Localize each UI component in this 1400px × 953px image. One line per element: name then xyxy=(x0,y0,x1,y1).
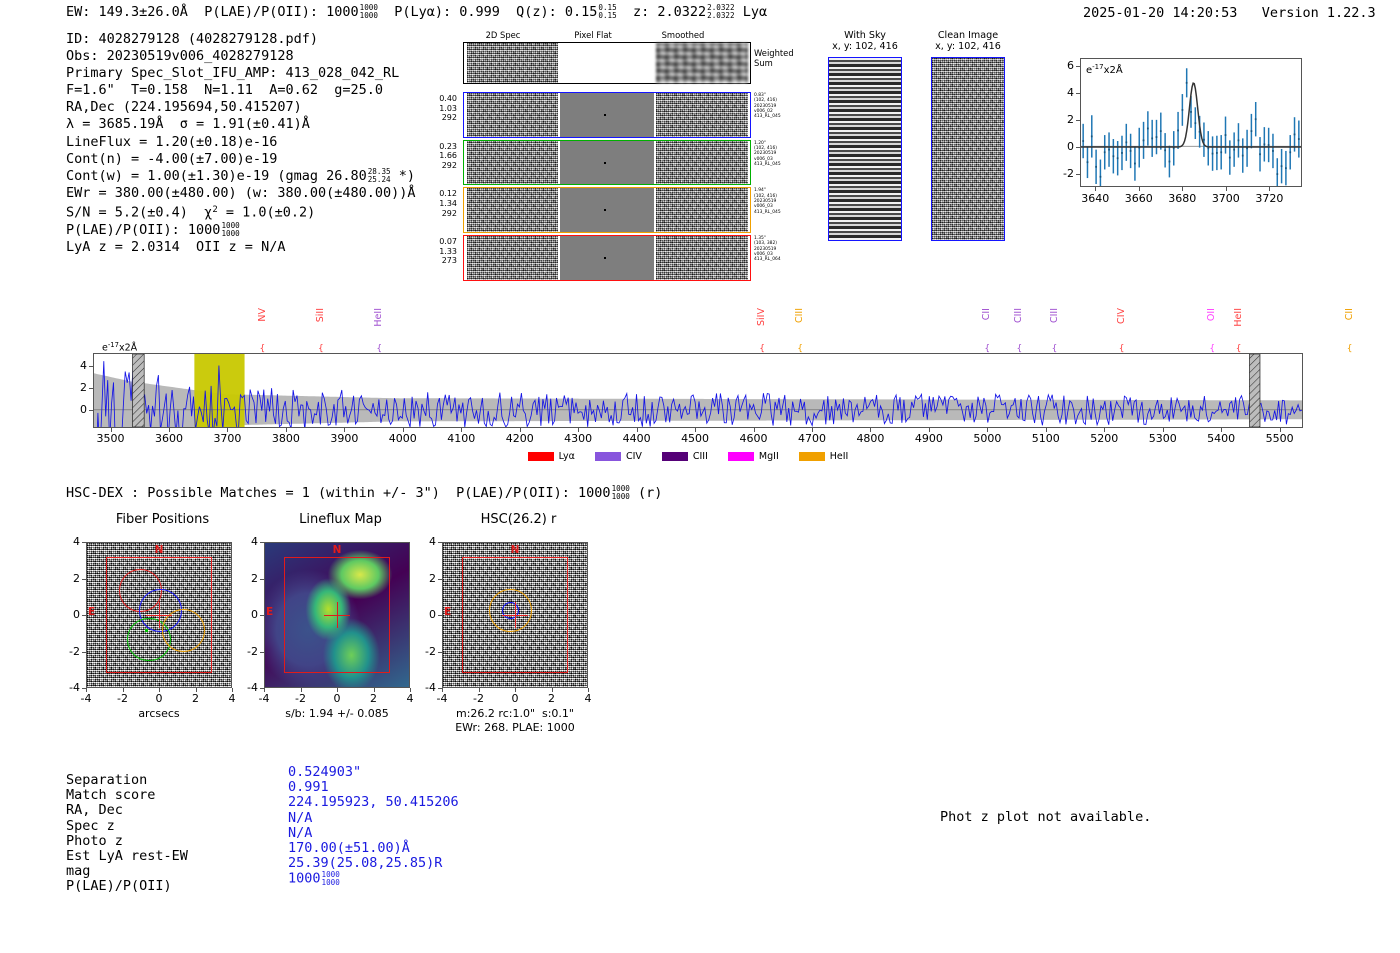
fiber-stat-value: 1.03 xyxy=(411,104,457,114)
compass-east-label: E xyxy=(266,606,273,618)
fiber-stat-value: 0.23 xyxy=(411,142,457,152)
x-tick-label: 5500 xyxy=(1255,432,1305,445)
fiber-row-stats: 0.071.33273 xyxy=(411,237,457,266)
y-tick-mark xyxy=(1076,66,1080,67)
with-sky-panel: With Sky x, y: 102, 416 xyxy=(824,30,906,245)
fiber-stat-value: 0.07 xyxy=(411,237,457,247)
legend-entry: Lyα xyxy=(528,451,575,462)
y-tick-mark xyxy=(82,615,86,616)
fiber-row-stats: 0.401.03292 xyxy=(411,94,457,123)
legend-color-swatch xyxy=(662,452,688,461)
y-tick-label: 4 xyxy=(71,359,87,372)
x-tick-label: 4100 xyxy=(436,432,486,445)
timestamp-version: 2025-01-20 14:20:53 Version 1.22.3 xyxy=(1083,5,1376,21)
match-plae-fraction: 10001000 xyxy=(322,871,340,886)
with-sky-image xyxy=(828,57,902,241)
x-tick-label: 2 xyxy=(360,692,388,705)
cutout-caption-primary: m:26.2 rc:1.0" s:0.1" xyxy=(416,707,614,720)
spec2d-aggregate-strip xyxy=(463,42,751,84)
y-tick-mark xyxy=(438,542,442,543)
x-tick-label: 3800 xyxy=(261,432,311,445)
x-tick-label: 3720 xyxy=(1249,192,1289,205)
y-tick-mark xyxy=(260,542,264,543)
fiber-meta-value: 413_RL_045 xyxy=(754,114,812,119)
header-plae-fraction: 10001000 xyxy=(360,4,378,19)
info-plae-fraction: 10001000 xyxy=(221,222,239,237)
fiber-stat-value: 1.66 xyxy=(411,151,457,161)
legend-label: MgII xyxy=(759,451,779,462)
y-tick-label: 0 xyxy=(238,608,258,621)
cutout-caption-primary: s/b: 1.94 +/- 0.085 xyxy=(238,707,436,720)
emission-line-label: HeII xyxy=(1233,308,1244,327)
spec2d-title-2dspec: 2D Spec xyxy=(455,30,551,40)
legend-color-swatch xyxy=(595,452,621,461)
info-continuum-narrow: Cont(n) = -4.00(±7.00)e-19 xyxy=(66,151,416,168)
y-tick-mark xyxy=(89,388,93,389)
cutout-title: Fiber Positions xyxy=(60,512,265,527)
y-tick-mark xyxy=(1076,93,1080,94)
x-tick-label: 4 xyxy=(574,692,602,705)
x-tick-mark xyxy=(1139,187,1140,191)
clean-image-cutout xyxy=(931,57,1005,241)
match-row-label: Separation xyxy=(66,773,147,788)
x-tick-label: 5300 xyxy=(1138,432,1188,445)
hscdex-match-line: HSC-DEX : Possible Matches = 1 (within +… xyxy=(66,485,662,501)
x-tick-label: 4600 xyxy=(729,432,779,445)
x-tick-label: 4900 xyxy=(904,432,954,445)
y-tick-mark xyxy=(438,652,442,653)
y-tick-label: 2 xyxy=(71,381,87,394)
fiber-pixelflat-image xyxy=(560,141,654,185)
crosshair-line xyxy=(159,602,160,628)
y-tick-mark xyxy=(89,410,93,411)
fiber-smoothed-image xyxy=(656,236,748,280)
cutout-image-hsc-r-band[interactable]: NE xyxy=(442,542,588,688)
zoom-spectrum-canvas xyxy=(1081,59,1301,186)
fiber-stat-value: 273 xyxy=(411,256,457,266)
full-spectrum-legend: LyαCIVCIIIMgIIHeII xyxy=(93,446,1303,465)
match-row-label: Photo z xyxy=(66,834,123,849)
y-tick-label: 4 xyxy=(238,535,258,548)
y-tick-label: 2 xyxy=(60,572,80,585)
match-row-value: 224.195923, 50.415206 xyxy=(288,795,459,810)
info-continuum-wide: Cont(w) = 1.00(±1.30)e-19 (gmag 26.8028.… xyxy=(66,168,416,185)
y-tick-mark xyxy=(1076,147,1080,148)
compass-east-label: E xyxy=(444,606,451,618)
fiber-row-metadata: 0.83"(102, 416)20230519v006_02413_RL_045 xyxy=(754,93,812,119)
y-tick-label: 0 xyxy=(60,608,80,621)
legend-label: CIV xyxy=(626,451,642,462)
weighted-sum-label: Weighted Sum xyxy=(754,48,794,68)
x-tick-label: -2 xyxy=(287,692,315,705)
match-row-label: Match score xyxy=(66,788,155,803)
y-tick-label: 4 xyxy=(416,535,436,548)
x-tick-label: 3660 xyxy=(1119,192,1159,205)
y-tick-label: 4 xyxy=(60,535,80,548)
fiber-stat-value: 1.34 xyxy=(411,199,457,209)
fiber-meta-value: 413_RL_045 xyxy=(754,162,812,167)
info-id: ID: 4028279128 (4028279128.pdf) xyxy=(66,31,416,48)
emission-line-label: SiIV xyxy=(756,308,767,326)
cutout-caption-primary: arcsecs xyxy=(60,707,258,720)
y-tick-mark xyxy=(260,652,264,653)
emission-line-label: CIII xyxy=(1049,308,1060,323)
cutout-panel-hsc-r-band: HSC(26.2) rNE420-2-4-4-2024m:26.2 rc:1.0… xyxy=(416,512,621,727)
emission-line-label: HeII xyxy=(373,308,384,327)
legend-label: Lyα xyxy=(559,451,575,462)
x-tick-mark xyxy=(1226,187,1227,191)
y-tick-label: 2 xyxy=(416,572,436,585)
legend-color-swatch xyxy=(799,452,825,461)
fiber-stat-value: 1.33 xyxy=(411,247,457,257)
source-info-block: ID: 4028279128 (4028279128.pdf) Obs: 202… xyxy=(66,31,416,256)
aggregate-2dspec-image xyxy=(467,43,558,83)
fiber-meta-value: 413_RL_064 xyxy=(754,257,812,262)
fiber-row-stats: 0.121.34292 xyxy=(411,189,457,218)
header-plya: P(Lyα): 0.999 xyxy=(394,4,500,20)
fiber-2dspec-image xyxy=(467,236,558,280)
fiber-smoothed-image xyxy=(656,141,748,185)
x-tick-label: 0 xyxy=(145,692,173,705)
y-tick-label: -2 xyxy=(238,645,258,658)
compass-north-label: N xyxy=(511,544,520,556)
fiber-2dspec-image xyxy=(467,141,558,185)
info-radec: RA,Dec (224.195694,50.415207) xyxy=(66,99,416,116)
compass-north-label: N xyxy=(155,544,164,556)
match-row-label: mag xyxy=(66,864,90,879)
cutout-title: Lineflux Map xyxy=(238,512,443,527)
cutout-title: HSC(26.2) r xyxy=(416,512,621,527)
x-tick-label: -4 xyxy=(250,692,278,705)
x-tick-label: 3600 xyxy=(144,432,194,445)
legend-label: CIII xyxy=(693,451,708,462)
gmag-fraction: 28.3525.24 xyxy=(368,168,391,183)
fiber-stat-value: 0.12 xyxy=(411,189,457,199)
fiber-stat-value: 292 xyxy=(411,209,457,219)
crosshair xyxy=(87,543,231,687)
fiber-smoothed-image xyxy=(656,188,748,232)
crosshair-line xyxy=(515,602,516,628)
x-tick-label: 4500 xyxy=(670,432,720,445)
legend-entry: CIII xyxy=(662,451,708,462)
fiber-center-marker xyxy=(604,257,606,259)
match-plae-value: 1000 xyxy=(288,871,321,887)
x-tick-label: 5400 xyxy=(1196,432,1246,445)
y-tick-mark xyxy=(438,579,442,580)
x-tick-label: 0 xyxy=(501,692,529,705)
y-tick-mark xyxy=(1076,174,1080,175)
match-row-value: 100010001000 xyxy=(288,871,340,887)
legend-label: HeII xyxy=(830,451,849,462)
with-sky-coords: x, y: 102, 416 xyxy=(824,41,906,53)
spec2d-title-pixelflat: Pixel Flat xyxy=(545,30,641,40)
fiber-row-metadata: 1.20"(102, 416)20230519v006_03413_RL_045 xyxy=(754,141,812,167)
aggregate-smoothed-image xyxy=(656,43,748,83)
cutout-panel-fiber-positions: Fiber PositionsNE420-2-4-4-2024arcsecs xyxy=(60,512,265,727)
info-rest-ew: EWr = 380.00(±480.00) (w: 380.00(±480.00… xyxy=(66,185,416,202)
y-tick-label: 4 xyxy=(1052,86,1074,99)
x-tick-label: 2 xyxy=(538,692,566,705)
spec2d-fiber-row xyxy=(463,187,751,233)
header-summary-line: EW: 149.3±26.0Å P(LAE)/P(OII): 100010001… xyxy=(66,4,767,20)
photz-plot-message: Phot z plot not available. xyxy=(940,809,1151,825)
clean-image-panel: Clean Image x, y: 102, 416 xyxy=(927,30,1009,245)
spec2d-fiber-row xyxy=(463,235,751,281)
header-qz-label: Q(z): 0.15 xyxy=(516,4,597,20)
x-tick-label: 3640 xyxy=(1075,192,1115,205)
match-row-label: Spec z xyxy=(66,819,115,834)
y-tick-mark xyxy=(89,366,93,367)
info-plae: P(LAE)/P(OII): 100010001000 xyxy=(66,222,416,239)
fiber-center-marker xyxy=(604,209,606,211)
x-tick-label: 4300 xyxy=(553,432,603,445)
info-observing-conditions: F=1.6" T=0.158 N=1.11 A=0.62 g=25.0 xyxy=(66,82,416,99)
cutout-panel-lineflux-map: Lineflux MapNE420-2-4-4-2024s/b: 1.94 +/… xyxy=(238,512,443,727)
cutout-image-fiber-positions[interactable]: NE xyxy=(86,542,232,688)
y-tick-mark xyxy=(82,652,86,653)
y-tick-mark xyxy=(82,579,86,580)
x-tick-mark xyxy=(1095,187,1096,191)
emission-line-label: CII xyxy=(1344,308,1355,320)
header-qz-fraction: 0.150.15 xyxy=(598,4,616,19)
y-tick-mark xyxy=(260,615,264,616)
x-tick-label: 3700 xyxy=(1206,192,1246,205)
zoom-spectrum-frame xyxy=(1080,58,1302,187)
info-sn-chi2: S/N = 5.2(±0.4) χ2 = 1.0(±0.2) xyxy=(66,202,416,222)
crosshair-line xyxy=(337,602,338,628)
fiber-smoothed-image xyxy=(656,93,748,137)
fiber-2dspec-image xyxy=(467,188,558,232)
crosshair xyxy=(443,543,587,687)
fiber-row-stats: 0.231.66292 xyxy=(411,142,457,171)
zoom-spectrum-plot: e-17x2Å -20246 36403660368037003720 xyxy=(1040,55,1302,215)
y-tick-mark xyxy=(82,542,86,543)
y-tick-mark xyxy=(1076,120,1080,121)
x-tick-label: 3500 xyxy=(86,432,136,445)
full-spectrum-frame xyxy=(93,353,1303,428)
emission-line-label: SiII xyxy=(315,308,326,322)
fiber-stat-value: 292 xyxy=(411,113,457,123)
cutout-image-lineflux-map[interactable]: NE xyxy=(264,542,410,688)
emission-line-label: CII xyxy=(981,308,992,320)
x-tick-label: 3900 xyxy=(319,432,369,445)
fiber-stat-value: 292 xyxy=(411,161,457,171)
hscdex-plae-fraction: 10001000 xyxy=(612,485,630,500)
y-tick-label: 0 xyxy=(71,403,87,416)
y-tick-label: 6 xyxy=(1052,59,1074,72)
fiber-row-metadata: 1.94"(102, 416)20230519v006_03413_RL_045 xyxy=(754,188,812,214)
x-tick-label: 4000 xyxy=(378,432,428,445)
fiber-pixelflat-image xyxy=(560,188,654,232)
legend-entry: CIV xyxy=(595,451,642,462)
emission-line-label: CIII xyxy=(1013,308,1024,323)
full-spectrum-canvas xyxy=(94,354,1302,427)
y-tick-label: -2 xyxy=(416,645,436,658)
match-row-value: 170.00(±51.00)Å xyxy=(288,841,410,856)
match-row-value: N/A xyxy=(288,811,312,826)
header-z-label: z: 2.0322 xyxy=(633,4,706,20)
x-tick-label: 5100 xyxy=(1021,432,1071,445)
with-sky-title: With Sky xyxy=(824,30,906,42)
fiber-center-marker xyxy=(604,114,606,116)
x-tick-label: 3700 xyxy=(202,432,252,445)
info-obs: Obs: 20230519v006_4028279128 xyxy=(66,48,416,65)
match-row-value: N/A xyxy=(288,826,312,841)
x-tick-label: 4800 xyxy=(845,432,895,445)
clean-image-coords: x, y: 102, 416 xyxy=(927,41,1009,53)
fiber-pixelflat-image xyxy=(560,236,654,280)
info-lambda-sigma: λ = 3685.19Å σ = 1.91(±0.41)Å xyxy=(66,116,416,133)
y-tick-label: 0 xyxy=(1052,140,1074,153)
spec2d-title-smoothed: Smoothed xyxy=(635,30,731,40)
x-tick-label: 3680 xyxy=(1162,192,1202,205)
legend-entry: HeII xyxy=(799,451,849,462)
x-tick-label: -2 xyxy=(109,692,137,705)
fiber-center-marker xyxy=(604,162,606,164)
x-tick-label: 2 xyxy=(182,692,210,705)
crosshair xyxy=(265,543,409,687)
match-row-label: P(LAE)/P(OII) xyxy=(66,879,172,894)
legend-color-swatch xyxy=(528,452,554,461)
fiber-pixelflat-image xyxy=(560,93,654,137)
x-tick-label: 5000 xyxy=(962,432,1012,445)
spec2d-fiber-row xyxy=(463,140,751,186)
fiber-stat-value: 0.40 xyxy=(411,94,457,104)
info-lineflux: LineFlux = 1.20(±0.18)e-16 xyxy=(66,134,416,151)
y-tick-mark xyxy=(438,615,442,616)
match-row-value: 0.991 xyxy=(288,780,329,795)
cutout-caption-secondary: EWr: 268. PLAE: 1000 xyxy=(416,721,614,734)
full-spectrum-plot: NV{SiII{HeII{SiIV{CIII{CII{CIII{CIII{CIV… xyxy=(93,338,1303,468)
header-plae-label: P(LAE)/P(OII): 1000 xyxy=(204,4,358,20)
match-row-value: 0.524903" xyxy=(288,765,361,780)
y-tick-label: -2 xyxy=(1052,167,1074,180)
y-tick-mark xyxy=(260,579,264,580)
match-row-label: RA, Dec xyxy=(66,803,123,818)
x-tick-label: 4700 xyxy=(787,432,837,445)
full-spectrum-yunit: e-17x2Å xyxy=(102,341,137,354)
match-row-label: Est LyA rest-EW xyxy=(66,849,188,864)
x-tick-label: -2 xyxy=(465,692,493,705)
y-tick-label: 0 xyxy=(416,608,436,621)
y-tick-label: 2 xyxy=(1052,113,1074,126)
clean-image-title: Clean Image xyxy=(927,30,1009,42)
x-tick-label: 5200 xyxy=(1079,432,1129,445)
cutout-triptych: Fiber PositionsNE420-2-4-4-2024arcsecsLi… xyxy=(60,512,620,727)
compass-east-label: E xyxy=(88,606,95,618)
fiber-meta-value: 413_RL_045 xyxy=(754,210,812,215)
emission-line-label: CIII xyxy=(794,308,805,323)
x-tick-label: 0 xyxy=(323,692,351,705)
x-tick-label: -4 xyxy=(428,692,456,705)
compass-north-label: N xyxy=(333,544,342,556)
x-tick-mark xyxy=(1269,187,1270,191)
spec2d-montage: 2D Spec Pixel Flat Smoothed Weighted Sum… xyxy=(437,30,767,255)
legend-entry: MgII xyxy=(728,451,779,462)
emission-line-label: CIV xyxy=(1116,308,1127,324)
info-redshifts: LyA z = 2.0314 OII z = N/A xyxy=(66,239,416,256)
x-tick-label: 4200 xyxy=(495,432,545,445)
emission-line-label: OII xyxy=(1206,308,1217,321)
fiber-row-metadata: 1.35"(103, 382)20230519v006_03413_RL_064 xyxy=(754,236,812,262)
header-z-fraction: 2.03222.0322 xyxy=(707,4,734,19)
x-tick-label: -4 xyxy=(72,692,100,705)
zoom-spectrum-yunit: e-17x2Å xyxy=(1086,63,1123,76)
y-tick-label: 2 xyxy=(238,572,258,585)
emission-line-marker: { xyxy=(1347,344,1353,354)
x-tick-label: 4400 xyxy=(612,432,662,445)
aggregate-pixelflat-image xyxy=(560,43,654,83)
spec2d-fiber-row xyxy=(463,92,751,138)
y-tick-label: -2 xyxy=(60,645,80,658)
info-primary-slot: Primary Spec_Slot_IFU_AMP: 413_028_042_R… xyxy=(66,65,416,82)
legend-color-swatch xyxy=(728,452,754,461)
fiber-2dspec-image xyxy=(467,93,558,137)
match-row-value: 25.39(25.08,25.85)R xyxy=(288,856,442,871)
x-tick-mark xyxy=(1182,187,1183,191)
header-ew: EW: 149.3±26.0Å xyxy=(66,4,188,20)
emission-line-label: NV xyxy=(257,308,268,322)
header-line-name: Lyα xyxy=(743,4,767,20)
